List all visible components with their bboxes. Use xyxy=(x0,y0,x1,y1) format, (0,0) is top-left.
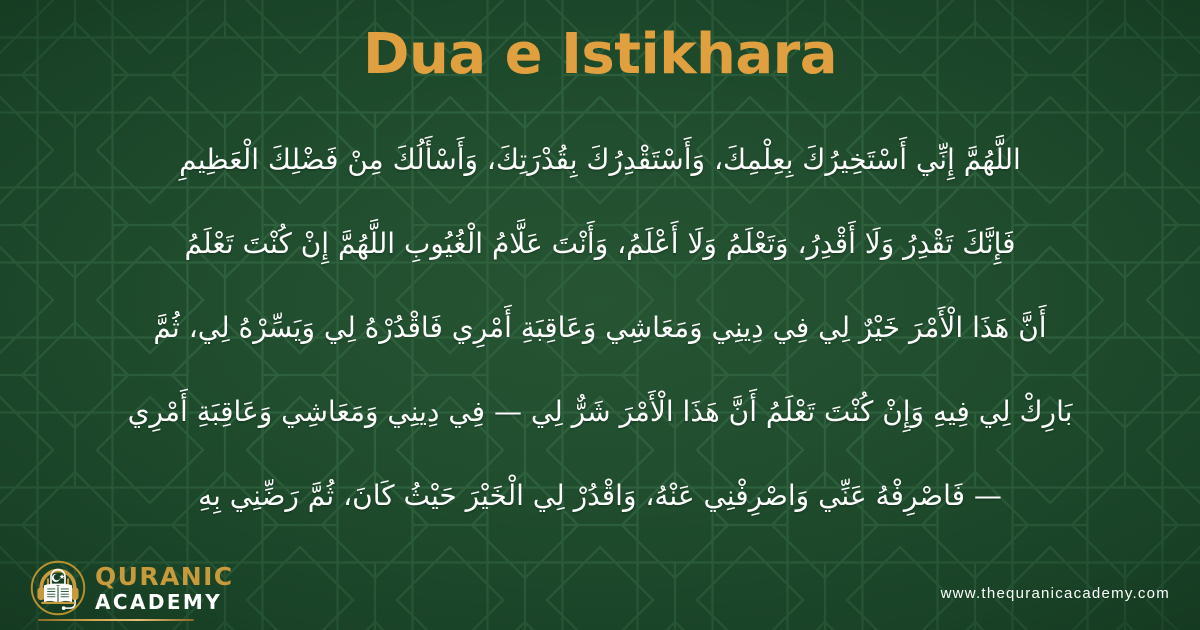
dua-line: بَارِكْ لِي فِيهِ وَإِنْ كُنْتَ تَعْلَمُ… xyxy=(60,370,1140,454)
dua-arabic-text: اللَّهُمَّ إِنِّي أَسْتَخِيرُكَ بِعِلْمِ… xyxy=(60,118,1140,538)
book-headphones-mosque-icon xyxy=(30,560,86,616)
dua-line: اللَّهُمَّ إِنِّي أَسْتَخِيرُكَ بِعِلْمِ… xyxy=(60,118,1140,202)
footer-bar: QURANIC ACADEMY www.thequranicacademy.co… xyxy=(0,534,1200,630)
brand-name-secondary: ACADEMY xyxy=(95,592,234,612)
dua-line: فَإِنَّكَ تَقْدِرُ وَلَا أَقْدِرُ، وَتَع… xyxy=(60,202,1140,286)
brand-logo[interactable]: QURANIC ACADEMY xyxy=(30,560,234,616)
poster-canvas: Dua e Istikhara اللَّهُمَّ إِنِّي أَسْتَ… xyxy=(0,0,1200,630)
brand-name-primary: QURANIC xyxy=(95,564,234,589)
website-url[interactable]: www.thequranicacademy.com xyxy=(941,585,1170,602)
brand-underline-rule xyxy=(38,619,194,621)
page-title: Dua e Istikhara xyxy=(0,20,1200,90)
dua-line: — فَاصْرِفْهُ عَنِّي وَاصْرِفْنِي عَنْهُ… xyxy=(60,454,1140,538)
dua-line: أَنَّ هَذَا الْأَمْرَ خَيْرٌ لِي فِي دِي… xyxy=(60,286,1140,370)
brand-wordmark: QURANIC ACADEMY xyxy=(95,564,234,612)
